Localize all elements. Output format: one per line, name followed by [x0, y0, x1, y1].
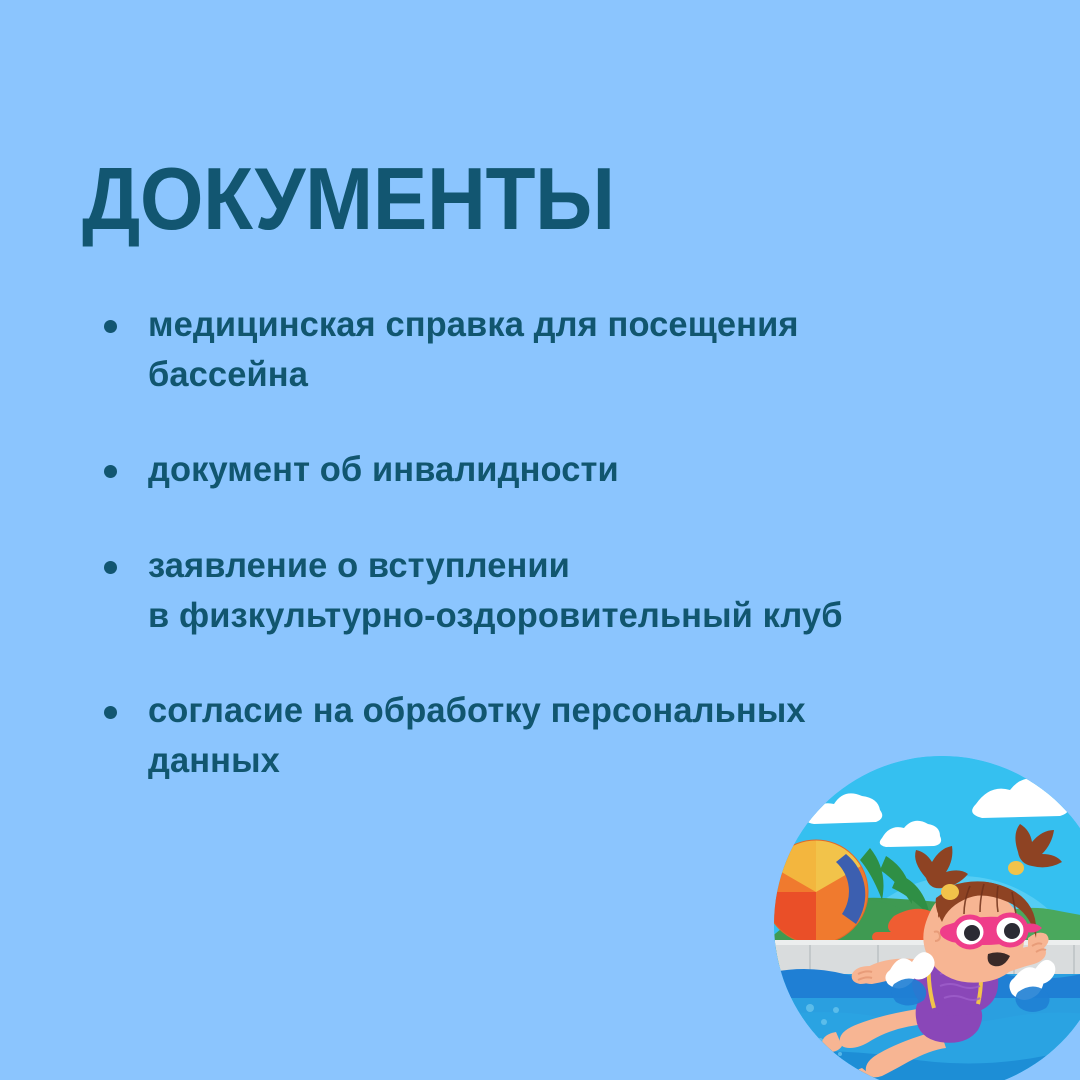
bullet-dot-icon — [104, 706, 117, 719]
bullet-dot-icon — [104, 561, 117, 574]
hair-tie-right — [1008, 861, 1024, 875]
list-item: заявление о вступлении в физкультурно-оз… — [104, 541, 1014, 640]
bullet-dot-icon — [104, 465, 117, 478]
list-item-label: заявление о вступлении в физкультурно-оз… — [148, 541, 1001, 640]
hair-tie-left — [941, 884, 959, 900]
slide-canvas: ДОКУМЕНТЫ медицинская справка для посеще… — [0, 0, 1080, 1080]
bullet-dot-icon — [104, 320, 117, 333]
list-item-label: документ об инвалидности — [148, 445, 1001, 495]
list-item: документ об инвалидности — [104, 445, 1014, 495]
list-item: медицинская справка для посещения бассей… — [104, 300, 1014, 399]
documents-list: медицинская справка для посещения бассей… — [104, 300, 1014, 832]
list-item-label: медицинская справка для посещения бассей… — [148, 300, 1001, 399]
page-title: ДОКУМЕНТЫ — [82, 155, 615, 243]
